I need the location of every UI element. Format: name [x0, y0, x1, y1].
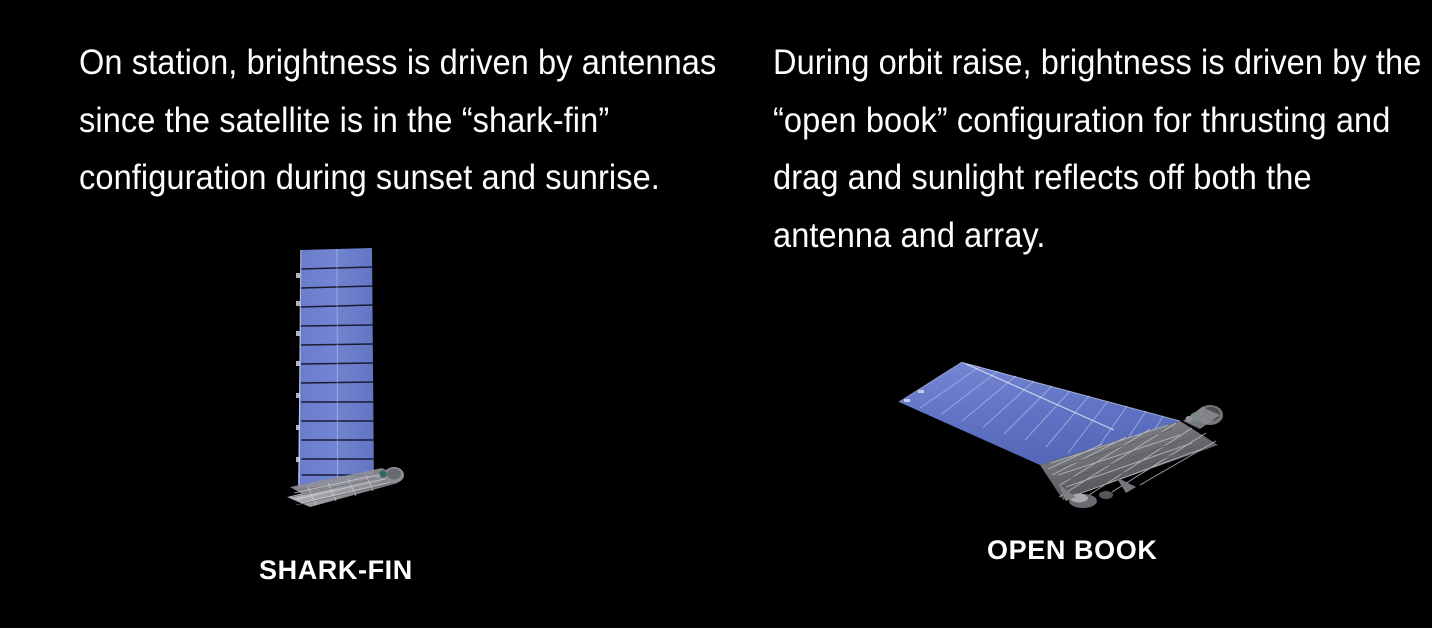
shark-fin-solar-array	[296, 248, 374, 488]
on-station-line-2: since the satellite is in the “shark-fin…	[79, 92, 637, 150]
orbit-raise-line-4: antenna and array.	[773, 207, 1331, 265]
orbit-raise-line-3: drag and sunlight reflects off both the	[773, 149, 1331, 207]
shark-fin-label: SHARK-FIN	[259, 555, 413, 586]
orbit-raise-line-1: During orbit raise, brightness is driven…	[773, 34, 1331, 92]
open-book-label: OPEN BOOK	[987, 535, 1157, 566]
open-book-antenna	[1183, 405, 1223, 429]
satellite-open-book-icon	[880, 345, 1270, 525]
on-station-text-block: On station, brightness is driven by ante…	[79, 34, 679, 207]
orbit-raise-text-block: During orbit raise, brightness is driven…	[773, 34, 1373, 264]
on-station-line-3: configuration during sunset and sunrise.	[79, 149, 637, 207]
on-station-line-1: On station, brightness is driven by ante…	[79, 34, 637, 92]
orbit-raise-line-2: “open book” configuration for thrusting …	[773, 92, 1331, 150]
slide-root: On station, brightness is driven by ante…	[0, 0, 1432, 628]
satellite-shark-fin-icon	[270, 235, 430, 520]
